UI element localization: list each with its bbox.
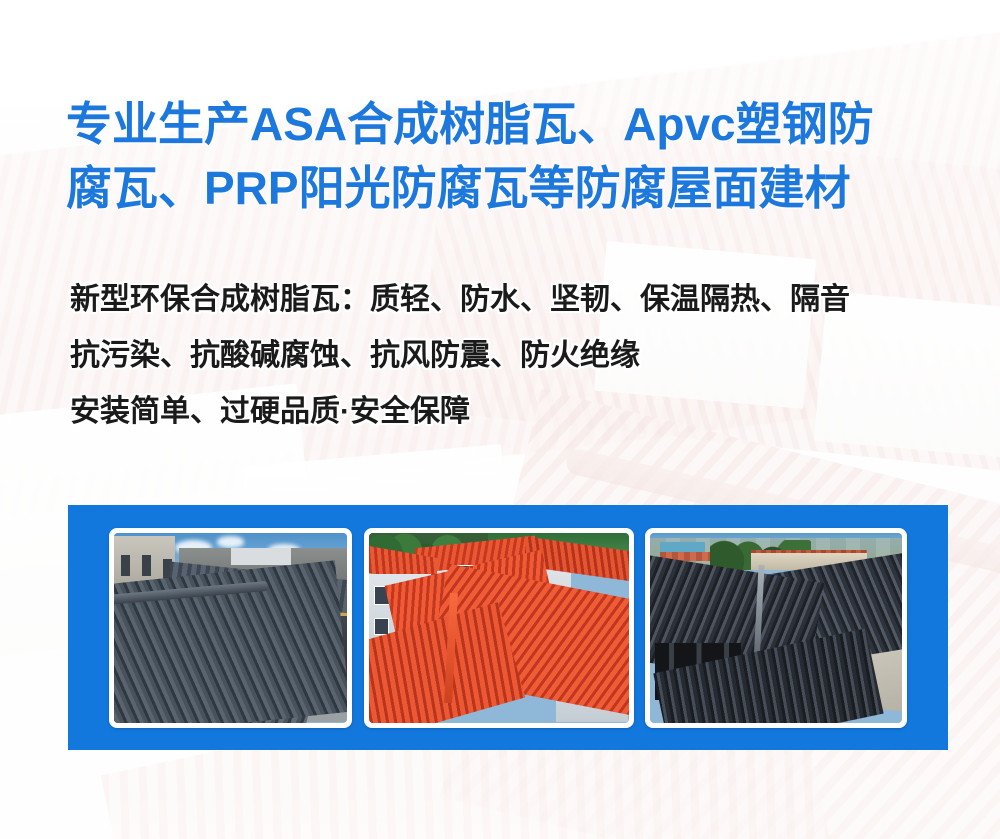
banner-subheadline: 新型环保合成树脂瓦：质轻、防水、坚韧、保温隔热、隔音 抗污染、抗酸碱腐蚀、抗风防… xyxy=(70,272,970,440)
headline-line-2: 腐瓦、PRP阳光防腐瓦等防腐屋面建材 xyxy=(66,156,946,220)
subheadline-line-3: 安装简单、过硬品质·安全保障 xyxy=(70,384,970,440)
subheadline-line-2: 抗污染、抗酸碱腐蚀、抗风防震、防火绝缘 xyxy=(70,328,970,384)
photo2-window-5 xyxy=(374,618,390,635)
product-banner: 专业生产ASA合成树脂瓦、Apvc塑钢防 腐瓦、PRP阳光防腐瓦等防腐屋面建材 … xyxy=(0,0,1000,839)
banner-headline: 专业生产ASA合成树脂瓦、Apvc塑钢防 腐瓦、PRP阳光防腐瓦等防腐屋面建材 xyxy=(66,92,946,220)
subheadline-line-1: 新型环保合成树脂瓦：质轻、防水、坚韧、保温隔热、隔音 xyxy=(70,272,970,328)
red-resin-tile-roof-photo xyxy=(369,533,629,723)
headline-line-1: 专业生产ASA合成树脂瓦、Apvc塑钢防 xyxy=(66,92,946,156)
photo1-dormer xyxy=(231,548,292,565)
banner-content: 专业生产ASA合成树脂瓦、Apvc塑钢防 腐瓦、PRP阳光防腐瓦等防腐屋面建材 … xyxy=(0,0,1000,839)
photo1-cloud-2 xyxy=(217,536,245,547)
photo1-window-2 xyxy=(142,555,151,576)
dark-resin-tile-roof-photo xyxy=(650,533,902,723)
photo1-window-1 xyxy=(121,555,130,576)
photo-frame-1[interactable] xyxy=(109,528,352,728)
photo-frame-3[interactable] xyxy=(645,528,907,728)
product-photo-gallery xyxy=(68,505,948,750)
photo-frame-2[interactable] xyxy=(364,528,634,728)
grey-resin-tile-roof-photo xyxy=(114,533,347,723)
